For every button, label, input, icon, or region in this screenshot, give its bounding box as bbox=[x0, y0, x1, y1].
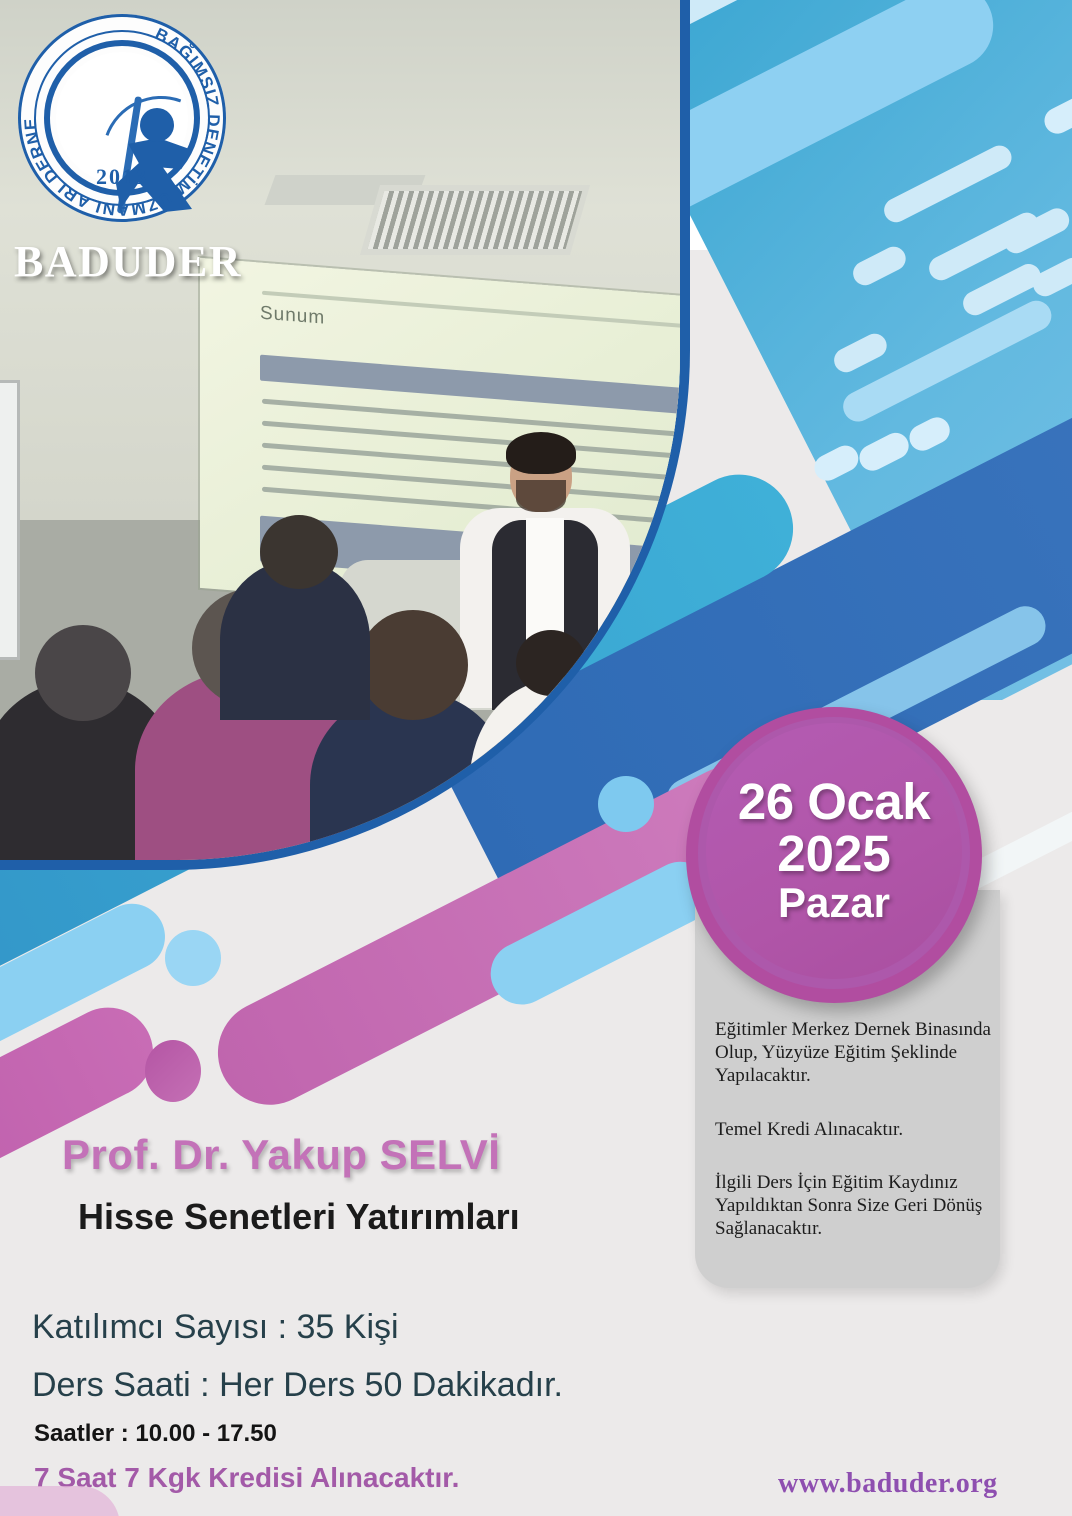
brand-name: BADUDER bbox=[14, 236, 242, 287]
audience-head-3 bbox=[358, 610, 468, 720]
detail-hours: Saatler : 10.00 - 17.50 bbox=[34, 1420, 277, 1448]
detail-participants: Katılımcı Sayısı : 35 Kişi bbox=[32, 1308, 399, 1347]
ceiling-fixture-icon bbox=[360, 185, 590, 255]
detail-lesson-duration: Ders Saati : Her Ders 50 Dakikadır. bbox=[32, 1366, 563, 1405]
info-paragraph-1: Eğitimler Merkez Dernek Binasında Olup, … bbox=[715, 1018, 1015, 1088]
date-weekday: Pazar bbox=[778, 880, 890, 926]
info-paragraph-3: İlgili Ders İçin Eğitim Kaydınız Yapıldı… bbox=[715, 1171, 1015, 1241]
audience-head-8 bbox=[596, 658, 680, 738]
event-poster: Şifresi erdenet1 Sunum bbox=[0, 0, 1072, 1516]
decor-dot-magenta bbox=[145, 1040, 201, 1102]
audience-head-4 bbox=[260, 515, 338, 589]
presenter-beard bbox=[516, 480, 566, 512]
website-link[interactable]: www.baduder.org bbox=[778, 1468, 998, 1500]
date-day: 26 Ocak bbox=[738, 776, 930, 828]
speaker-topic: Hisse Senetleri Yatırımları bbox=[78, 1196, 520, 1238]
audience-head-1 bbox=[35, 625, 131, 721]
audience-head-7 bbox=[516, 630, 586, 696]
info-panel-text: Eğitimler Merkez Dernek Binasında Olup, … bbox=[715, 1018, 1015, 1240]
photo-whiteboard bbox=[0, 380, 20, 660]
presenter-hair bbox=[506, 432, 576, 474]
date-year: 2025 bbox=[777, 828, 890, 880]
screen-title: Sunum bbox=[260, 303, 325, 330]
decor-dot-lightblue bbox=[165, 930, 221, 986]
date-badge: 26 Ocak 2025 Pazar bbox=[706, 723, 962, 979]
logo-ring-text: BAĞIMSIZ DENETİM UZMANLARI DERNEĞİ bbox=[18, 14, 226, 222]
baduder-logo: BAĞIMSIZ DENETİM UZMANLARI DERNEĞİ 2013 bbox=[18, 14, 226, 222]
info-paragraph-2: Temel Kredi Alınacaktır. bbox=[715, 1118, 1015, 1141]
logo-year: 2013 bbox=[18, 164, 226, 190]
speaker-name: Prof. Dr. Yakup SELVİ bbox=[62, 1131, 500, 1179]
